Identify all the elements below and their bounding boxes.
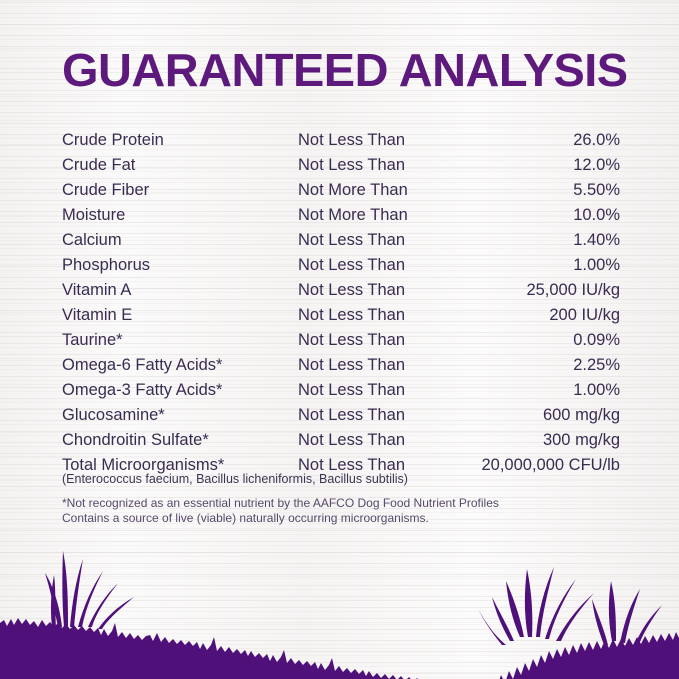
nutrient-value: 1.40%	[460, 228, 620, 253]
nutrient-name: Calcium	[62, 228, 298, 253]
nutrient-value: 1.00%	[460, 253, 620, 278]
footnotes: (Enterococcus faecium, Bacillus lichenif…	[62, 470, 622, 526]
nutrient-qualifier: Not Less Than	[298, 153, 460, 178]
table-row: Vitamin A Not Less Than 25,000 IU/kg	[62, 278, 620, 303]
table-row: Omega-3 Fatty Acids* Not Less Than 1.00%	[62, 378, 620, 403]
nutrient-qualifier: Not Less Than	[298, 128, 460, 153]
nutrient-value: 12.0%	[460, 153, 620, 178]
nutrient-value: 2.25%	[460, 353, 620, 378]
nutrient-name: Chondroitin Sulfate*	[62, 428, 298, 453]
table-row: Taurine* Not Less Than 0.09%	[62, 328, 620, 353]
table-row: Moisture Not More Than 10.0%	[62, 203, 620, 228]
nutrient-qualifier: Not Less Than	[298, 353, 460, 378]
nutrient-value: 25,000 IU/kg	[460, 278, 620, 303]
nutrient-name: Vitamin E	[62, 303, 298, 328]
nutrient-name: Crude Protein	[62, 128, 298, 153]
nutrient-qualifier: Not More Than	[298, 178, 460, 203]
guaranteed-analysis-panel: GUARANTEED ANALYSIS Crude Protein Not Le…	[0, 0, 679, 679]
footnote-line-1: *Not recognized as an essential nutrient…	[62, 496, 622, 511]
nutrient-name: Moisture	[62, 203, 298, 228]
nutrient-value: 0.09%	[460, 328, 620, 353]
nutrient-qualifier: Not More Than	[298, 203, 460, 228]
nutrient-value: 300 mg/kg	[460, 428, 620, 453]
nutrient-name: Taurine*	[62, 328, 298, 353]
table-row: Phosphorus Not Less Than 1.00%	[62, 253, 620, 278]
nutrient-qualifier: Not Less Than	[298, 278, 460, 303]
table-row: Chondroitin Sulfate* Not Less Than 300 m…	[62, 428, 620, 453]
nutrient-qualifier: Not Less Than	[298, 378, 460, 403]
nutrient-name: Phosphorus	[62, 253, 298, 278]
nutrient-value: 600 mg/kg	[460, 403, 620, 428]
table-row: Crude Protein Not Less Than 26.0%	[62, 128, 620, 153]
nutrient-qualifier: Not Less Than	[298, 403, 460, 428]
nutrient-qualifier: Not Less Than	[298, 328, 460, 353]
table-row: Crude Fiber Not More Than 5.50%	[62, 178, 620, 203]
table-row: Crude Fat Not Less Than 12.0%	[62, 153, 620, 178]
nutrient-qualifier: Not Less Than	[298, 253, 460, 278]
footnote-strains: (Enterococcus faecium, Bacillus lichenif…	[62, 470, 622, 488]
nutrient-qualifier: Not Less Than	[298, 228, 460, 253]
nutrition-table: Crude Protein Not Less Than 26.0% Crude …	[62, 128, 620, 478]
nutrient-value: 26.0%	[460, 128, 620, 153]
nutrient-value: 10.0%	[460, 203, 620, 228]
table-row: Calcium Not Less Than 1.40%	[62, 228, 620, 253]
grass-silhouette-icon	[0, 519, 679, 679]
nutrient-name: Omega-3 Fatty Acids*	[62, 378, 298, 403]
panel-content: GUARANTEED ANALYSIS Crude Protein Not Le…	[0, 0, 679, 679]
nutrient-value: 5.50%	[460, 178, 620, 203]
nutrient-name: Glucosamine*	[62, 403, 298, 428]
nutrient-value: 1.00%	[460, 378, 620, 403]
nutrient-name: Omega-6 Fatty Acids*	[62, 353, 298, 378]
nutrient-qualifier: Not Less Than	[298, 303, 460, 328]
nutrient-value: 200 IU/kg	[460, 303, 620, 328]
table-row: Glucosamine* Not Less Than 600 mg/kg	[62, 403, 620, 428]
table-row: Omega-6 Fatty Acids* Not Less Than 2.25%	[62, 353, 620, 378]
nutrient-name: Crude Fat	[62, 153, 298, 178]
table-row: Vitamin E Not Less Than 200 IU/kg	[62, 303, 620, 328]
nutrient-qualifier: Not Less Than	[298, 428, 460, 453]
nutrient-name: Vitamin A	[62, 278, 298, 303]
nutrient-name: Crude Fiber	[62, 178, 298, 203]
page-title: GUARANTEED ANALYSIS	[62, 44, 628, 96]
